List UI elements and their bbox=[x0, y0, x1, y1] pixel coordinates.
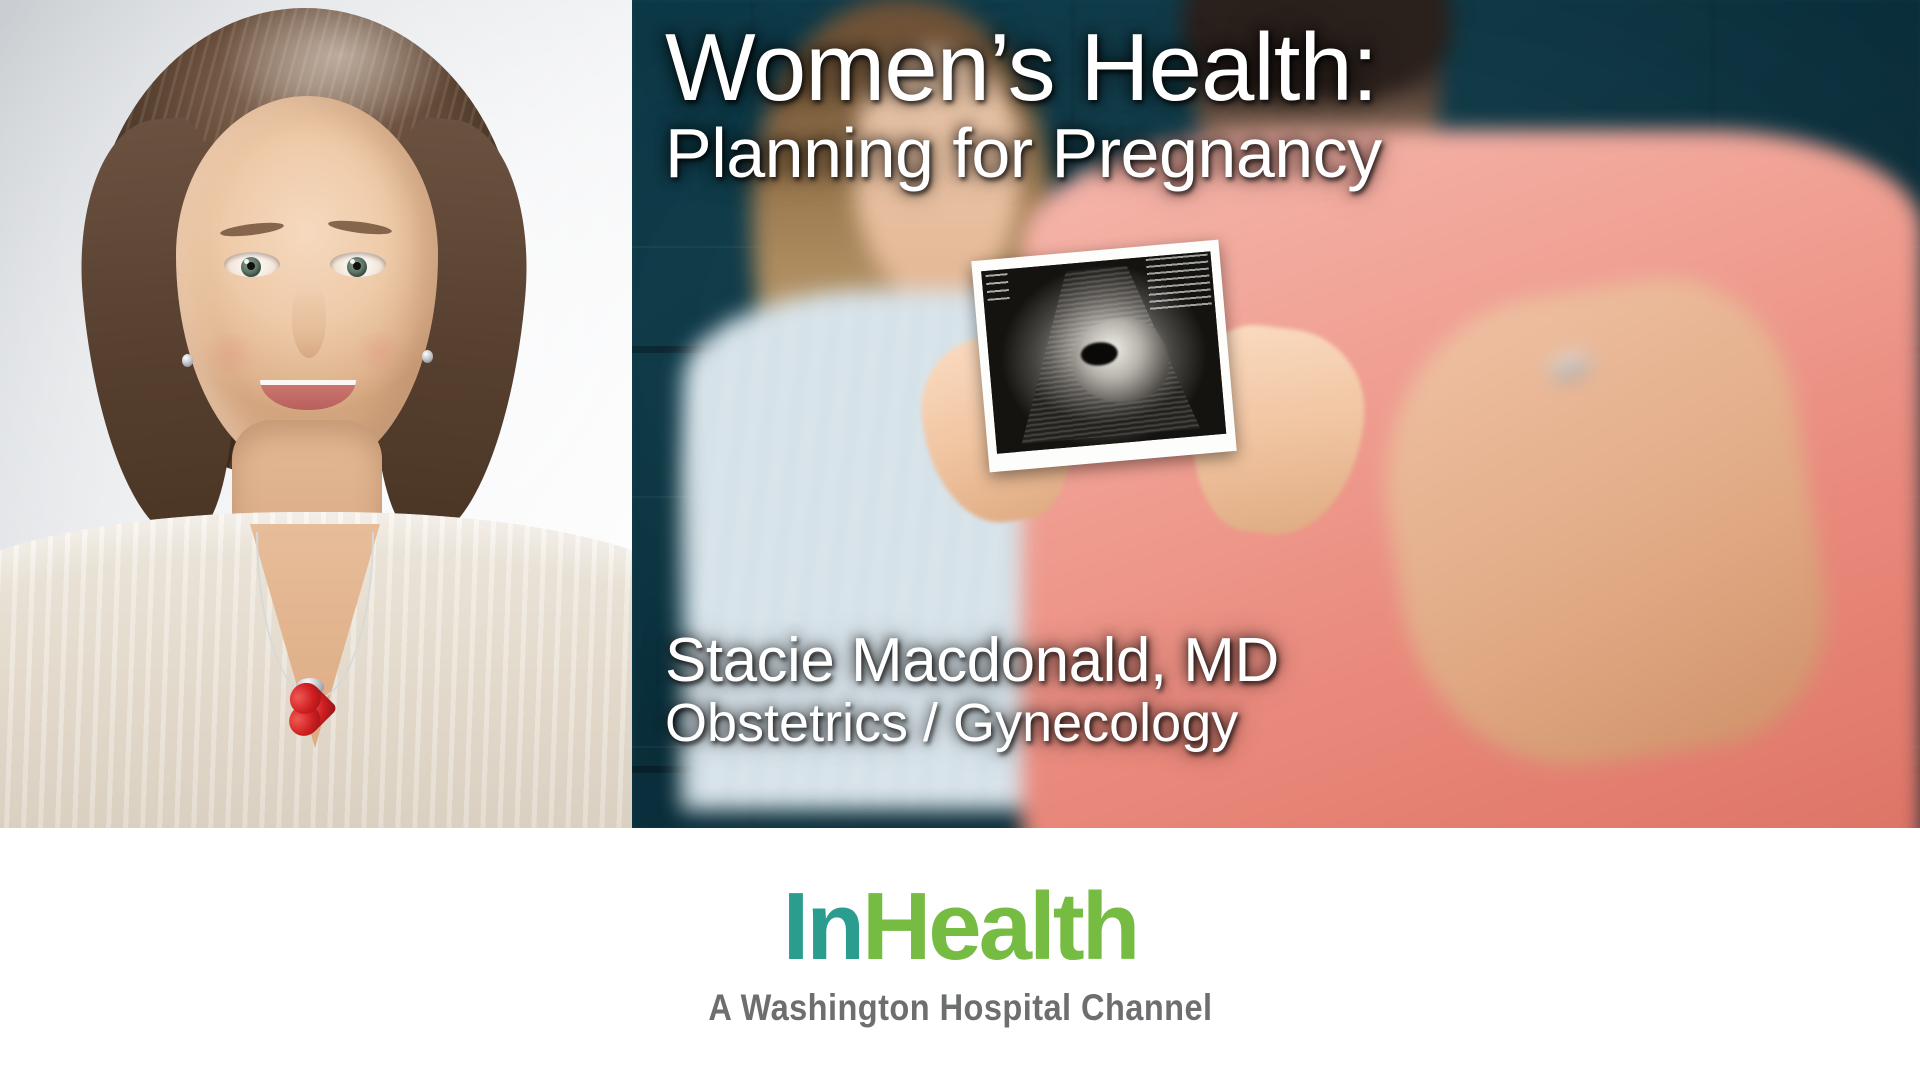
video-title-card: Women’s Health: Planning for Pregnancy S… bbox=[0, 0, 1920, 1080]
page-subtitle: Planning for Pregnancy bbox=[665, 115, 1382, 192]
portrait-cheek-right bbox=[350, 332, 410, 372]
media-band: Women’s Health: Planning for Pregnancy S… bbox=[0, 0, 1920, 828]
title-block: Women’s Health: Planning for Pregnancy bbox=[665, 18, 1382, 192]
portrait-iris-left bbox=[241, 257, 261, 277]
portrait-eyebrow-right bbox=[328, 218, 393, 237]
ultrasound-readout-left bbox=[985, 273, 1009, 301]
ultrasound-readout-right bbox=[1146, 254, 1212, 313]
page-title: Women’s Health: bbox=[665, 18, 1382, 119]
portrait-eyebrow-left bbox=[220, 220, 285, 239]
logo-wordmark: InHealth bbox=[783, 879, 1138, 975]
portrait-cheek-left bbox=[200, 334, 260, 374]
speaker-specialty: Obstetrics / Gynecology bbox=[665, 693, 1279, 753]
ultrasound-print bbox=[971, 240, 1237, 473]
logo-tagline: A Washington Hospital Channel bbox=[708, 987, 1212, 1029]
portrait-iris-right bbox=[347, 257, 367, 277]
portrait-eye-left bbox=[224, 252, 280, 277]
speaker-name: Stacie Macdonald, MD bbox=[665, 628, 1279, 695]
inhealth-logo: InHealth A Washington Hospital Channel bbox=[674, 879, 1247, 1029]
portrait-eye-right bbox=[330, 252, 386, 277]
portrait-earring-right bbox=[422, 350, 433, 363]
speaker-block: Stacie Macdonald, MD Obstetrics / Gyneco… bbox=[665, 628, 1279, 753]
portrait-earring-left bbox=[182, 354, 193, 367]
portrait-smile bbox=[260, 380, 356, 410]
logo-word-health: Health bbox=[862, 873, 1137, 980]
portrait-nose bbox=[292, 282, 326, 358]
footer-bar: InHealth A Washington Hospital Channel bbox=[0, 828, 1920, 1080]
ultrasound-image bbox=[981, 251, 1226, 453]
speaker-portrait-image bbox=[0, 0, 632, 828]
logo-word-in: In bbox=[783, 873, 862, 980]
